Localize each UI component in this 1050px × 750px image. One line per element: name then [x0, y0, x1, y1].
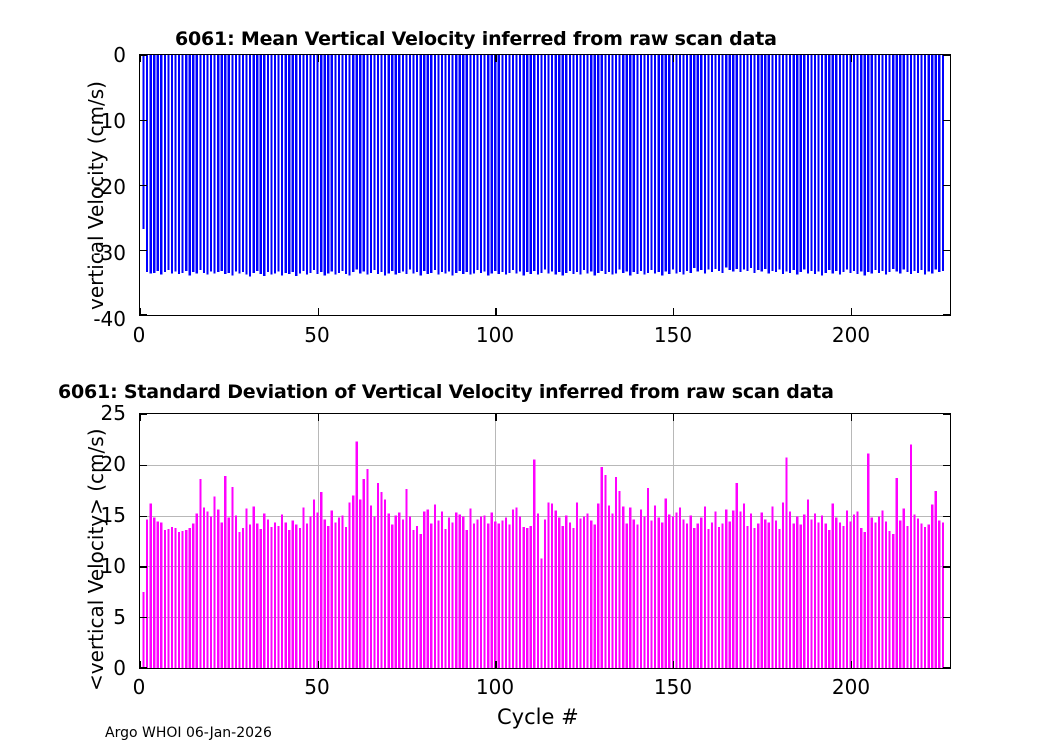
std-bar — [832, 503, 834, 668]
std-bar — [238, 532, 240, 668]
std-bar — [370, 505, 372, 668]
mean-bar — [341, 55, 343, 271]
std-xtick-bottom — [495, 661, 496, 668]
mean-bar — [757, 55, 759, 270]
std-bar — [800, 525, 802, 668]
mean-bar — [629, 55, 631, 275]
mean-bar — [189, 55, 191, 275]
std-velocity-axes[interactable] — [139, 413, 951, 669]
std-bar — [455, 513, 457, 668]
std-xtick-bottom — [851, 661, 852, 668]
mean-bar — [231, 55, 233, 275]
std-bar — [409, 517, 411, 668]
mean-xtick-top — [318, 55, 319, 62]
mean-bar — [896, 55, 898, 271]
mean-bar — [626, 55, 628, 271]
std-bar — [452, 523, 454, 668]
std-bar — [167, 529, 169, 668]
mean-bar — [292, 55, 294, 272]
std-ytick-right — [943, 667, 950, 668]
std-bar — [427, 510, 429, 669]
std-bar — [508, 525, 510, 668]
mean-bar — [697, 55, 699, 271]
std-bar — [558, 518, 560, 668]
mean-bar — [796, 55, 798, 275]
mean-bar — [800, 55, 802, 272]
std-bar — [363, 479, 365, 668]
std-xtick-bottom — [318, 661, 319, 668]
std-bar — [754, 528, 756, 668]
std-bar — [725, 510, 727, 669]
std-bar — [526, 528, 528, 668]
std-bar — [604, 475, 606, 668]
mean-bar — [295, 55, 297, 276]
mean-bar-series — [140, 55, 950, 315]
std-xtick-label-1: 50 — [287, 677, 347, 697]
std-bar — [430, 524, 432, 668]
std-bar — [910, 444, 912, 668]
mean-bar — [270, 55, 272, 275]
std-bar — [647, 488, 649, 668]
std-bar — [501, 521, 503, 668]
mean-bar — [206, 55, 208, 275]
std-bar — [253, 506, 255, 668]
mean-bar — [327, 55, 329, 273]
std-bar — [864, 532, 866, 668]
mean-bar — [398, 55, 400, 273]
std-bar — [203, 507, 205, 668]
mean-bar — [199, 55, 201, 270]
std-bar — [349, 502, 351, 668]
std-bar — [423, 512, 425, 668]
mean-bar — [530, 55, 532, 274]
mean-bar — [313, 55, 315, 270]
std-ytick-left — [140, 617, 147, 618]
mean-bar — [736, 55, 738, 269]
std-bar — [654, 505, 656, 668]
std-xtick-label-4: 200 — [821, 677, 881, 697]
mean-bar — [544, 55, 546, 270]
std-bar — [839, 523, 841, 668]
mean-bar — [714, 55, 716, 269]
mean-bar — [317, 55, 319, 274]
std-bar — [540, 558, 542, 668]
mean-bar — [764, 55, 766, 269]
std-bar — [302, 507, 304, 668]
mean-bar — [491, 55, 493, 273]
mean-bar — [746, 55, 748, 271]
std-ytick-label-0: 0 — [30, 658, 126, 678]
mean-ytick-label-3: -30 — [30, 243, 126, 263]
mean-ytick-left — [140, 185, 147, 186]
mean-bar — [665, 55, 667, 271]
std-bar — [615, 477, 617, 668]
mean-bar — [849, 55, 851, 273]
mean-bar — [615, 55, 617, 273]
mean-bar — [263, 55, 265, 276]
mean-bar — [587, 55, 589, 273]
std-bar — [821, 516, 823, 668]
std-bar — [619, 491, 621, 668]
std-bar — [903, 508, 905, 668]
mean-bar — [853, 55, 855, 271]
mean-bar — [505, 55, 507, 275]
mean-bar — [889, 55, 891, 272]
std-ytick-right — [943, 465, 950, 466]
std-bar — [860, 528, 862, 668]
mean-bar — [690, 55, 692, 273]
mean-velocity-panel: 6061: Mean Vertical Velocity inferred fr… — [0, 0, 1050, 370]
std-bar — [285, 523, 287, 668]
std-bar — [466, 530, 468, 668]
mean-bar — [523, 55, 525, 275]
std-bar — [405, 489, 407, 668]
mean-bar — [249, 55, 251, 277]
std-bar — [835, 518, 837, 668]
mean-bar — [320, 55, 322, 272]
mean-bar — [466, 55, 468, 272]
mean-bar — [633, 55, 635, 272]
mean-bar — [370, 55, 372, 273]
mean-bar — [668, 55, 670, 274]
mean-bar — [857, 55, 859, 274]
std-xtick-top — [140, 414, 141, 421]
mean-bar — [839, 55, 841, 275]
std-bar — [544, 520, 546, 668]
mean-bar — [174, 55, 176, 271]
std-ytick-label-3: 15 — [30, 505, 126, 525]
mean-bar — [551, 55, 553, 271]
mean-bar — [494, 55, 496, 271]
std-bar — [889, 531, 891, 668]
std-xtick-label-3: 150 — [643, 677, 703, 697]
mean-bar — [487, 55, 489, 275]
mean-plot-title: 6061: Mean Vertical Velocity inferred fr… — [175, 28, 777, 50]
mean-bar — [892, 55, 894, 269]
mean-bar — [512, 55, 514, 270]
mean-bar — [409, 55, 411, 270]
std-bar — [547, 502, 549, 668]
std-ytick-right — [943, 566, 950, 567]
mean-bar — [160, 55, 162, 275]
std-bar — [384, 499, 386, 668]
std-bar — [146, 520, 148, 668]
mean-xtick-top — [495, 55, 496, 62]
std-bar — [235, 516, 237, 668]
std-xtick-top — [495, 414, 496, 421]
std-ytick-label-4: 20 — [30, 454, 126, 474]
std-bar — [484, 516, 486, 668]
std-bar — [480, 517, 482, 668]
std-bar — [324, 520, 326, 668]
std-bar — [306, 524, 308, 668]
std-bar — [576, 502, 578, 668]
std-ytick-right — [943, 414, 950, 415]
std-xtick-bottom — [673, 661, 674, 668]
std-bar — [675, 513, 677, 668]
std-bar — [444, 529, 446, 668]
footer-credit: Argo WHOI 06-Jan-2026 — [105, 725, 272, 741]
std-bar — [665, 498, 667, 668]
mean-xtick-top — [851, 55, 852, 62]
std-bar — [153, 518, 155, 668]
std-bar-series — [140, 414, 950, 668]
std-bar — [441, 512, 443, 668]
mean-bar — [242, 55, 244, 272]
mean-bar — [334, 55, 336, 275]
mean-bar — [537, 55, 539, 275]
std-bar — [768, 523, 770, 668]
std-bar — [711, 523, 713, 668]
std-bar — [569, 523, 571, 668]
mean-bar — [725, 55, 727, 268]
std-bar — [562, 526, 564, 668]
mean-bar — [562, 55, 564, 275]
std-bar — [771, 506, 773, 668]
std-bar — [714, 512, 716, 668]
mean-bar — [913, 55, 915, 271]
mean-bar — [778, 55, 780, 270]
std-bar — [707, 529, 709, 668]
std-bar — [679, 507, 681, 668]
std-bar — [594, 525, 596, 668]
mean-bar — [498, 55, 500, 274]
std-bar — [690, 516, 692, 668]
std-bar — [196, 514, 198, 668]
std-bar — [288, 530, 290, 668]
mean-bar — [775, 55, 777, 272]
std-bar — [626, 524, 628, 668]
std-xtick-top — [851, 414, 852, 421]
std-bar — [164, 530, 166, 668]
mean-bar — [654, 55, 656, 273]
mean-bar — [437, 55, 439, 275]
mean-bar — [817, 55, 819, 271]
mean-ytick-right — [943, 120, 950, 121]
std-bar — [739, 512, 741, 668]
std-bar — [171, 527, 173, 668]
mean-bar — [793, 55, 795, 270]
mean-bar — [217, 55, 219, 272]
std-bar — [317, 513, 319, 668]
mean-bar — [214, 55, 216, 273]
mean-bar — [380, 55, 382, 272]
std-bar — [341, 516, 343, 668]
std-bar — [469, 508, 471, 668]
mean-bar — [878, 55, 880, 273]
mean-bar — [835, 55, 837, 271]
mean-bar — [519, 55, 521, 271]
mean-bar — [761, 55, 763, 271]
std-bar — [828, 530, 830, 668]
std-bar — [942, 523, 944, 668]
std-bar — [633, 520, 635, 668]
figure-canvas: 6061: Mean Vertical Velocity inferred fr… — [0, 0, 1050, 750]
std-bar — [729, 522, 731, 668]
mean-bar — [285, 55, 287, 273]
std-bar — [572, 528, 574, 668]
mean-bar — [906, 55, 908, 272]
std-xtick-top — [318, 414, 319, 421]
mean-bar — [924, 55, 926, 275]
mean-bar — [938, 55, 940, 272]
std-bar — [565, 516, 567, 668]
mean-bar — [473, 55, 475, 273]
mean-bar — [785, 55, 787, 271]
std-bar — [519, 517, 521, 668]
mean-bar — [871, 55, 873, 273]
mean-bar — [860, 55, 862, 271]
std-bar — [917, 519, 919, 668]
mean-bar — [707, 55, 709, 270]
std-bar — [334, 523, 336, 668]
std-plot-xlabel: Cycle # — [497, 705, 579, 729]
std-bar — [846, 511, 848, 668]
mean-bar — [579, 55, 581, 275]
std-bar — [530, 526, 532, 668]
std-bar — [931, 504, 933, 668]
std-bar — [498, 524, 500, 668]
mean-bar — [682, 55, 684, 275]
mean-bar — [430, 55, 432, 273]
mean-bar — [338, 55, 340, 273]
mean-bar — [881, 55, 883, 271]
mean-xtick-top — [140, 55, 141, 62]
mean-bar — [604, 55, 606, 274]
mean-bar — [576, 55, 578, 272]
mean-xtick-bottom — [495, 308, 496, 315]
mean-bar — [650, 55, 652, 270]
std-bar — [398, 513, 400, 668]
mean-bar — [171, 55, 173, 273]
mean-bar — [622, 55, 624, 273]
mean-bar — [480, 55, 482, 273]
std-bar — [462, 517, 464, 668]
mean-bar — [711, 55, 713, 272]
mean-ytick-right — [943, 185, 950, 186]
std-bar — [636, 525, 638, 668]
mean-bar — [821, 55, 823, 275]
mean-bar — [395, 55, 397, 275]
mean-bar — [750, 55, 752, 268]
std-ytick-left — [140, 465, 147, 466]
std-bar — [448, 518, 450, 668]
mean-bar — [832, 55, 834, 273]
std-bar — [658, 518, 660, 668]
mean-bar — [192, 55, 194, 272]
std-bar — [391, 525, 393, 668]
std-bar — [150, 503, 152, 668]
std-bar — [682, 520, 684, 668]
mean-bar — [768, 55, 770, 273]
mean-bar — [931, 55, 933, 273]
std-bar — [320, 492, 322, 668]
std-bar — [380, 492, 382, 668]
mean-bar — [142, 55, 144, 229]
std-bar — [217, 510, 219, 669]
std-bar — [345, 527, 347, 668]
mean-bar — [391, 55, 393, 271]
std-bar — [359, 499, 361, 668]
mean-bar — [221, 55, 223, 271]
mean-bar — [245, 55, 247, 275]
std-bar — [249, 525, 251, 668]
mean-bar — [803, 55, 805, 270]
mean-bar — [558, 55, 560, 272]
mean-bar — [277, 55, 279, 271]
mean-bar — [846, 55, 848, 270]
std-bar — [260, 529, 262, 668]
std-bar — [537, 514, 539, 668]
mean-bar — [885, 55, 887, 275]
std-bar — [182, 531, 184, 668]
std-bar — [793, 524, 795, 668]
std-bar — [189, 528, 191, 668]
mean-bar — [814, 55, 816, 274]
mean-xtick-bottom — [673, 308, 674, 315]
mean-bar — [349, 55, 351, 275]
mean-bar — [157, 55, 159, 271]
mean-velocity-axes[interactable] — [139, 54, 951, 316]
std-bar — [338, 518, 340, 668]
mean-bar — [402, 55, 404, 271]
std-bar — [842, 526, 844, 668]
std-bar — [899, 521, 901, 668]
mean-bar — [501, 55, 503, 272]
std-bar — [551, 503, 553, 668]
mean-bar — [661, 55, 663, 275]
mean-bar — [920, 55, 922, 270]
std-bar — [160, 523, 162, 668]
mean-bar — [903, 55, 905, 270]
mean-bar — [167, 55, 169, 270]
std-bar — [722, 524, 724, 668]
std-bar — [178, 532, 180, 668]
mean-bar — [210, 55, 212, 271]
std-ytick-right — [943, 617, 950, 618]
mean-bar — [722, 55, 724, 273]
mean-bar — [928, 55, 930, 271]
mean-bar — [647, 55, 649, 273]
std-bar — [420, 534, 422, 668]
mean-ytick-left — [140, 250, 147, 251]
mean-bar — [597, 55, 599, 273]
mean-bar — [583, 55, 585, 270]
mean-bar — [476, 55, 478, 270]
std-bar — [885, 522, 887, 668]
std-bar — [221, 523, 223, 668]
std-bar — [270, 527, 272, 668]
mean-bar — [459, 55, 461, 271]
mean-bar — [540, 55, 542, 273]
mean-bar — [643, 55, 645, 275]
mean-bar — [547, 55, 549, 273]
std-bar — [228, 518, 230, 668]
mean-bar — [484, 55, 486, 271]
std-bar — [892, 534, 894, 668]
std-bar — [810, 520, 812, 668]
std-bar — [199, 479, 201, 668]
mean-ytick-right — [943, 55, 950, 56]
std-bar — [622, 506, 624, 668]
std-bar — [192, 524, 194, 668]
std-bar — [785, 458, 787, 668]
std-bar — [473, 524, 475, 668]
std-bar — [661, 523, 663, 668]
mean-ytick-label-0: 0 — [30, 45, 126, 65]
std-xtick-label-0: 0 — [109, 677, 169, 697]
std-bar — [583, 517, 585, 668]
